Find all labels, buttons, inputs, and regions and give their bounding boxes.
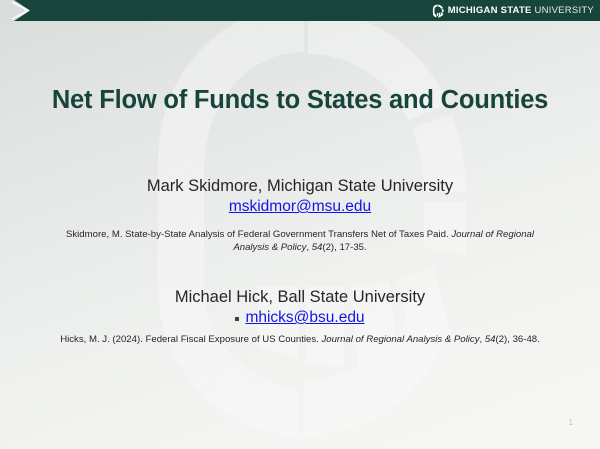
page-number: 1 [569, 418, 573, 427]
citation-2: Hicks, M. J. (2024). Federal Fiscal Expo… [50, 334, 550, 347]
presentation-slide: MICHIGAN STATE UNIVERSITY Net Flow of Fu… [0, 0, 600, 449]
author-name-1: Mark Skidmore, Michigan State University [0, 176, 600, 197]
author-email-row-2: mhicks@bsu.edu [0, 308, 600, 328]
email-link-2[interactable]: mhicks@bsu.edu [245, 308, 364, 328]
author-name-2: Michael Hick, Ball State University [0, 287, 600, 308]
wordmark-bold: MICHIGAN STATE [448, 5, 532, 16]
slide-title: Net Flow of Funds to States and Counties [0, 86, 600, 115]
author-block-1: Mark Skidmore, Michigan State University… [0, 176, 600, 217]
citation-1: Skidmore, M. State-by-State Analysis of … [65, 229, 535, 255]
spartan-helmet-watermark [108, 0, 508, 449]
wordmark-light: UNIVERSITY [534, 5, 594, 16]
citation-1-volume: 54 [312, 242, 323, 253]
author-block-2: Michael Hick, Ball State University mhic… [0, 287, 600, 328]
email-link-1[interactable]: mskidmor@msu.edu [229, 197, 371, 217]
spartan-helmet-icon [432, 4, 444, 18]
msu-wordmark: MICHIGAN STATE UNIVERSITY [432, 0, 594, 21]
citation-2-text: Hicks, M. J. (2024). Federal Fiscal Expo… [60, 334, 321, 345]
citation-2-pages: (2), 36-48. [496, 334, 540, 345]
bullet-square-icon [235, 317, 239, 321]
msu-wordmark-text: MICHIGAN STATE UNIVERSITY [448, 6, 594, 16]
author-email-row-1: mskidmor@msu.edu [0, 197, 600, 217]
citation-2-volume: 54 [485, 334, 496, 345]
citation-1-pages: (2), 17-35. [322, 242, 366, 253]
citation-1-text: Skidmore, M. State-by-State Analysis of … [66, 229, 451, 240]
citation-2-journal: Journal of Regional Analysis & Policy [321, 334, 479, 345]
